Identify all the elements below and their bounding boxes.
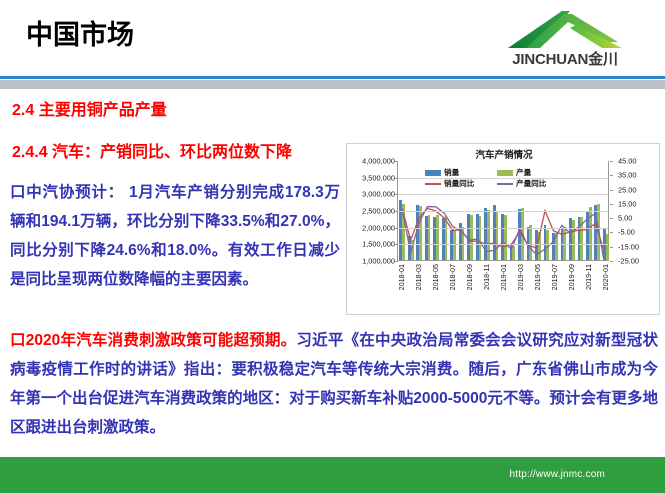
legend-swatch-output-yoy-icon <box>497 183 513 185</box>
paragraph-auto-sales-forecast: 口中汽协预计： 1月汽车产销分别完成178.3万辆和194.1万辆，环比分别下降… <box>10 178 340 294</box>
tick-mark <box>610 190 613 191</box>
legend-label-sales: 销量 <box>444 168 459 177</box>
x-tick-label: 2018-05 <box>431 264 440 290</box>
gridline <box>398 194 608 195</box>
y-tick-left: 2,500,000 <box>362 207 395 216</box>
chart-x-axis: 2018-012018-032018-052018-072018-092018-… <box>397 264 609 312</box>
legend-label-output: 产量 <box>516 168 531 177</box>
gridline <box>398 211 608 212</box>
y-tick-right: -25.00 <box>612 257 639 266</box>
legend-item-sales: 销量 <box>425 167 459 178</box>
tick-mark <box>610 232 613 233</box>
tick-mark <box>610 175 613 176</box>
legend-swatch-sales-yoy-icon <box>425 183 441 185</box>
tick-mark <box>610 204 613 205</box>
legend-swatch-sales-icon <box>425 170 441 176</box>
x-tick-label: 2019-11 <box>584 264 593 290</box>
gridline <box>398 228 608 229</box>
legend-item-sales-yoy: 销量同比 <box>425 178 474 189</box>
chart-auto-production-sales: 汽车产销情况 4,000,0003,500,0003,000,0002,500,… <box>346 143 660 315</box>
x-tick-label: 2020-01 <box>601 264 610 290</box>
y-tick-left: 4,000,000 <box>362 157 395 166</box>
section-heading-2-4: 2.4 主要用铜产品产量 <box>12 96 167 120</box>
header-divider-gray <box>0 80 665 89</box>
x-tick-label: 2019-07 <box>550 264 559 290</box>
y-tick-right: -15.00 <box>612 242 639 251</box>
legend-row-lines: 销量同比 产量同比 <box>425 178 575 189</box>
y-tick-left: 3,500,000 <box>362 173 395 182</box>
tick-mark <box>610 261 613 262</box>
legend-swatch-output-icon <box>497 170 513 176</box>
x-tick-label: 2018-07 <box>448 264 457 290</box>
y-tick-right: -5.00 <box>612 228 635 237</box>
x-tick-label: 2019-09 <box>567 264 576 290</box>
gridline <box>398 244 608 245</box>
footer-website-url: http://www.jnmc.com <box>510 469 606 480</box>
chart-line <box>402 207 604 260</box>
legend-label-output-yoy: 产量同比 <box>516 179 546 188</box>
tick-mark <box>395 261 398 262</box>
y-tick-left: 3,000,000 <box>362 190 395 199</box>
tick-mark <box>395 244 398 245</box>
header-divider-blue <box>0 76 665 79</box>
jinchuan-mountain-logo-icon <box>506 8 624 50</box>
y-tick-right: 45.00 <box>612 157 637 166</box>
paragraph-stimulus-policy-lead: 口2020年汽车消费刺激政策可能超预期。 <box>10 332 296 349</box>
tick-mark <box>395 161 398 162</box>
legend-label-sales-yoy: 销量同比 <box>444 179 474 188</box>
x-tick-label: 2019-01 <box>499 264 508 290</box>
tick-mark <box>610 161 613 162</box>
legend-row-bars: 销量 产量 <box>425 167 575 178</box>
x-tick-label: 2018-09 <box>465 264 474 290</box>
y-tick-left: 1,000,000 <box>362 257 395 266</box>
tick-mark <box>395 228 398 229</box>
slide-footer: http://www.jnmc.com <box>0 457 665 493</box>
paragraph-stimulus-policy: 口2020年汽车消费刺激政策可能超预期。习近平《在中央政治局常委会会议研究应对新… <box>10 326 658 442</box>
page-title: 中国市场 <box>26 18 134 52</box>
y-tick-left: 1,500,000 <box>362 240 395 249</box>
y-tick-right: 5.00 <box>612 214 632 223</box>
y-tick-right: 15.00 <box>612 199 637 208</box>
tick-mark <box>395 178 398 179</box>
chart-legend: 销量 产量 销量同比 产量同比 <box>425 167 575 189</box>
chart-y-axis-right: 45.0035.0025.0015.005.00-5.00-15.00-25.0… <box>612 161 660 261</box>
x-tick-label: 2019-05 <box>533 264 542 290</box>
y-tick-right: 35.00 <box>612 171 637 180</box>
y-tick-right: 25.00 <box>612 185 637 194</box>
slide-header: 中国市场 JINCHUAN金川 <box>0 0 665 78</box>
logo-wordmark: JINCHUAN金川 <box>500 48 630 69</box>
legend-item-output-yoy: 产量同比 <box>497 178 546 189</box>
legend-item-output: 产量 <box>497 167 531 178</box>
slide: 中国市场 JINCHUAN金川 <box>0 0 665 493</box>
x-tick-label: 2018-03 <box>414 264 423 290</box>
tick-mark <box>395 211 398 212</box>
x-tick-label: 2018-11 <box>482 264 491 290</box>
tick-mark <box>610 247 613 248</box>
tick-mark <box>610 218 613 219</box>
tick-mark <box>395 194 398 195</box>
chart-y-axis-left: 4,000,0003,500,0003,000,0002,500,0002,00… <box>347 161 395 261</box>
x-tick-label: 2018-01 <box>397 264 406 290</box>
x-tick-label: 2019-03 <box>516 264 525 290</box>
y-tick-left: 2,000,000 <box>362 223 395 232</box>
section-heading-2-4-4: 2.4.4 汽车：产销同比、环比两位数下降 <box>12 138 292 162</box>
company-logo: JINCHUAN金川 <box>500 8 630 70</box>
